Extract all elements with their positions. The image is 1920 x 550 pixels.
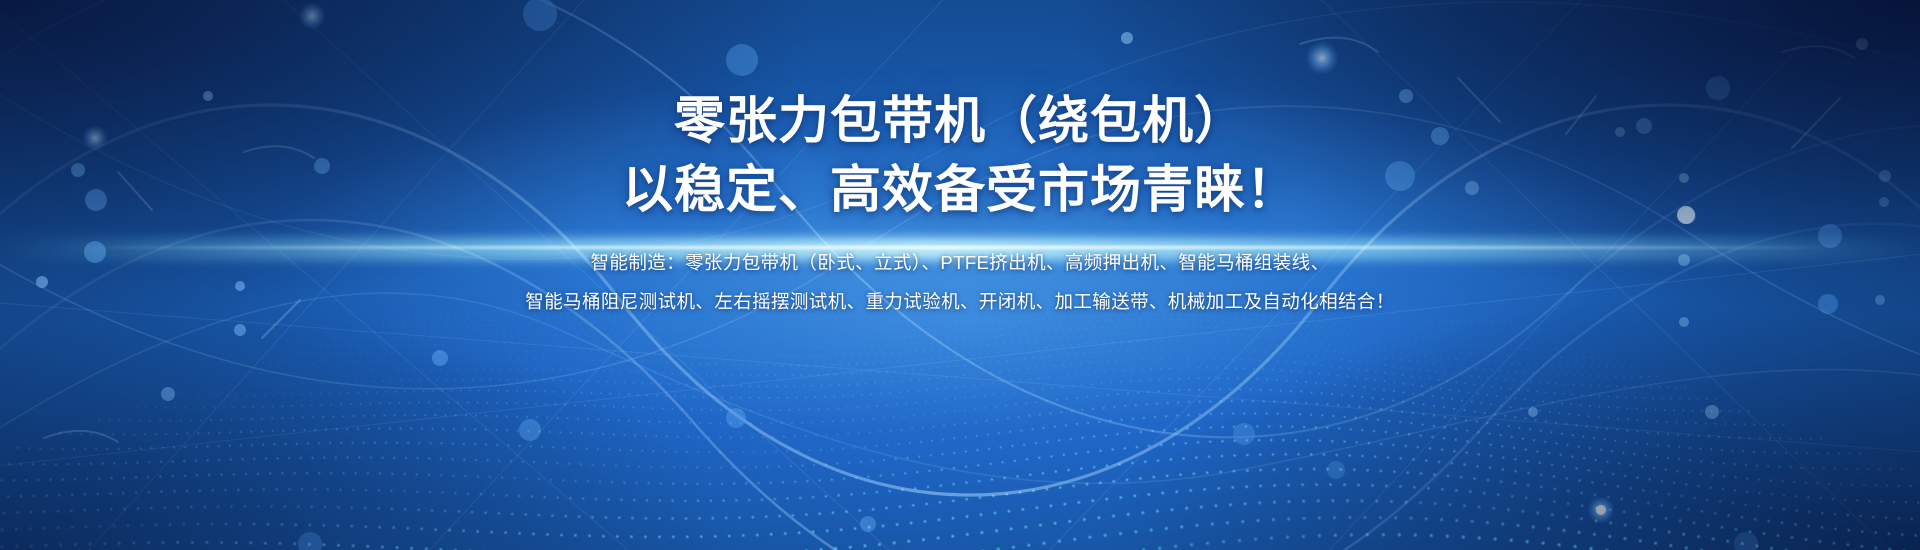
subcopy-block: 智能制造：零张力包带机（卧式、立式）、PTFE挤出机、高频押出机、智能马桶组装线… — [525, 244, 1394, 321]
headline-line-1: 零张力包带机（绕包机） — [622, 92, 1298, 149]
subcopy-line-2: 智能马桶阻尼测试机、左右摇摆测试机、重力试验机、开闭机、加工输送带、机械加工及自… — [525, 283, 1394, 321]
hero-banner: 零张力包带机（绕包机） 以稳定、高效备受市场青睐！ 智能制造：零张力包带机（卧式… — [0, 0, 1920, 550]
subcopy-line-1: 智能制造：零张力包带机（卧式、立式）、PTFE挤出机、高频押出机、智能马桶组装线… — [525, 244, 1394, 282]
headline-line-2: 以稳定、高效备受市场青睐！ — [622, 161, 1298, 218]
banner-content: 零张力包带机（绕包机） 以稳定、高效备受市场青睐！ 智能制造：零张力包带机（卧式… — [0, 0, 1920, 550]
headline-block: 零张力包带机（绕包机） 以稳定、高效备受市场青睐！ — [622, 92, 1298, 218]
